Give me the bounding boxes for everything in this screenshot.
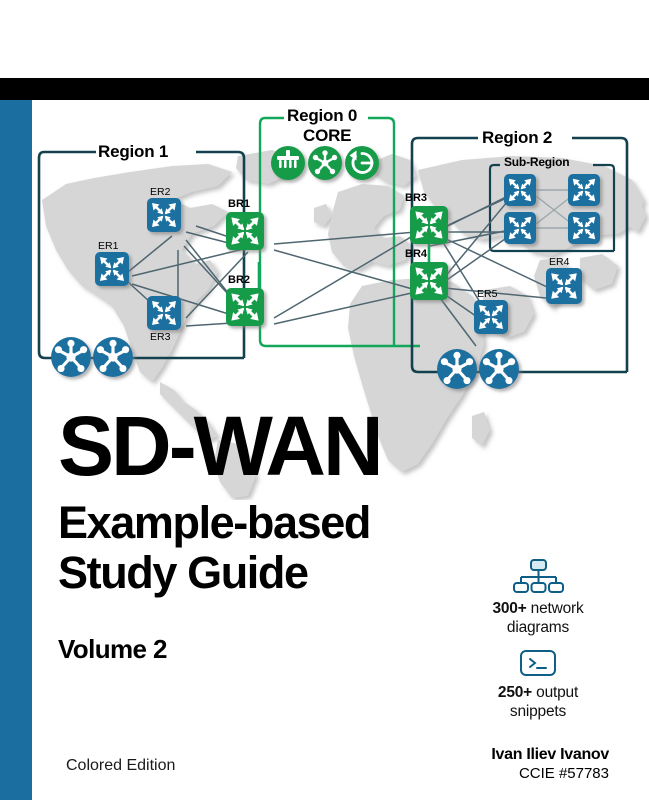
round-router-3 xyxy=(437,349,477,389)
network-diagram xyxy=(0,0,649,420)
label-BR4: BR4 xyxy=(405,248,427,260)
badge-network-diagrams-count: 300+ xyxy=(492,600,526,617)
label-ER4: ER4 xyxy=(549,256,569,268)
author-certification: CCIE #57783 xyxy=(491,765,609,782)
router-SR4 xyxy=(568,212,600,244)
core-controllers xyxy=(271,146,379,180)
author-name: Ivan Iliev Ivanov xyxy=(491,746,609,764)
badge-output-snippets: 250+ output snippets xyxy=(448,648,628,721)
router-ER1 xyxy=(95,252,129,286)
page-subtitle: Example-based Study Guide xyxy=(58,498,370,599)
label-BR1: BR1 xyxy=(228,198,250,210)
label-ER3: ER3 xyxy=(150,331,170,343)
label-BR2: BR2 xyxy=(228,274,250,286)
round-router-2 xyxy=(93,337,133,377)
router-ER3 xyxy=(147,296,181,330)
router-SR2 xyxy=(568,174,600,206)
region-1-boundary xyxy=(39,152,244,358)
badge-output-snippets-count: 250+ xyxy=(498,684,532,701)
region-0-label: Region 0 xyxy=(287,106,357,126)
terminal-prompt-icon xyxy=(515,648,561,680)
router-BR1 xyxy=(226,212,264,250)
router-ER2 xyxy=(147,198,181,232)
badge-output-snippets-text: 250+ output snippets xyxy=(448,684,628,721)
round-router-4 xyxy=(479,349,519,389)
router-SR1 xyxy=(504,174,536,206)
region-1-label: Region 1 xyxy=(98,142,168,162)
book-cover: Region 1 Region 0 CORE Region 2 Sub-Regi… xyxy=(0,0,649,800)
router-BR4 xyxy=(410,262,448,300)
author-block: Ivan Iliev Ivanov CCIE #57783 xyxy=(491,746,609,782)
badge-network-diagrams-label2: diagrams xyxy=(507,619,569,636)
router-SR3 xyxy=(504,212,536,244)
badge-network-diagrams: 300+ network diagrams xyxy=(448,558,628,637)
sub-region-label: Sub-Region xyxy=(504,155,569,169)
badge-network-diagrams-label1: network xyxy=(527,600,584,617)
subtitle-line-1: Example-based xyxy=(58,497,370,548)
vbond-icon xyxy=(308,146,342,180)
vsmart-icon xyxy=(271,146,305,180)
badge-network-diagrams-text: 300+ network diagrams xyxy=(448,600,628,637)
page-title: SD-WAN xyxy=(58,404,381,488)
router-BR3 xyxy=(410,206,448,244)
volume-label: Volume 2 xyxy=(58,634,167,665)
network-diagram-icon xyxy=(511,558,565,596)
region-0-core-label: CORE xyxy=(303,126,351,146)
badge-output-snippets-label1: output xyxy=(532,684,578,701)
sub-region-links xyxy=(536,190,572,228)
router-BR2 xyxy=(226,288,264,326)
edition-label: Colored Edition xyxy=(66,757,175,775)
subtitle-line-2: Study Guide xyxy=(58,547,308,598)
label-ER2: ER2 xyxy=(150,186,170,198)
router-ER5 xyxy=(474,300,508,334)
label-ER5: ER5 xyxy=(477,288,497,300)
round-router-1 xyxy=(51,337,91,377)
router-ER4 xyxy=(546,268,582,304)
region-2-boundary xyxy=(412,138,627,372)
badge-output-snippets-label2: snippets xyxy=(510,703,566,720)
region-2-label: Region 2 xyxy=(482,128,552,148)
label-BR3: BR3 xyxy=(405,192,427,204)
vmanage-icon xyxy=(345,146,379,180)
label-ER1: ER1 xyxy=(98,240,118,252)
